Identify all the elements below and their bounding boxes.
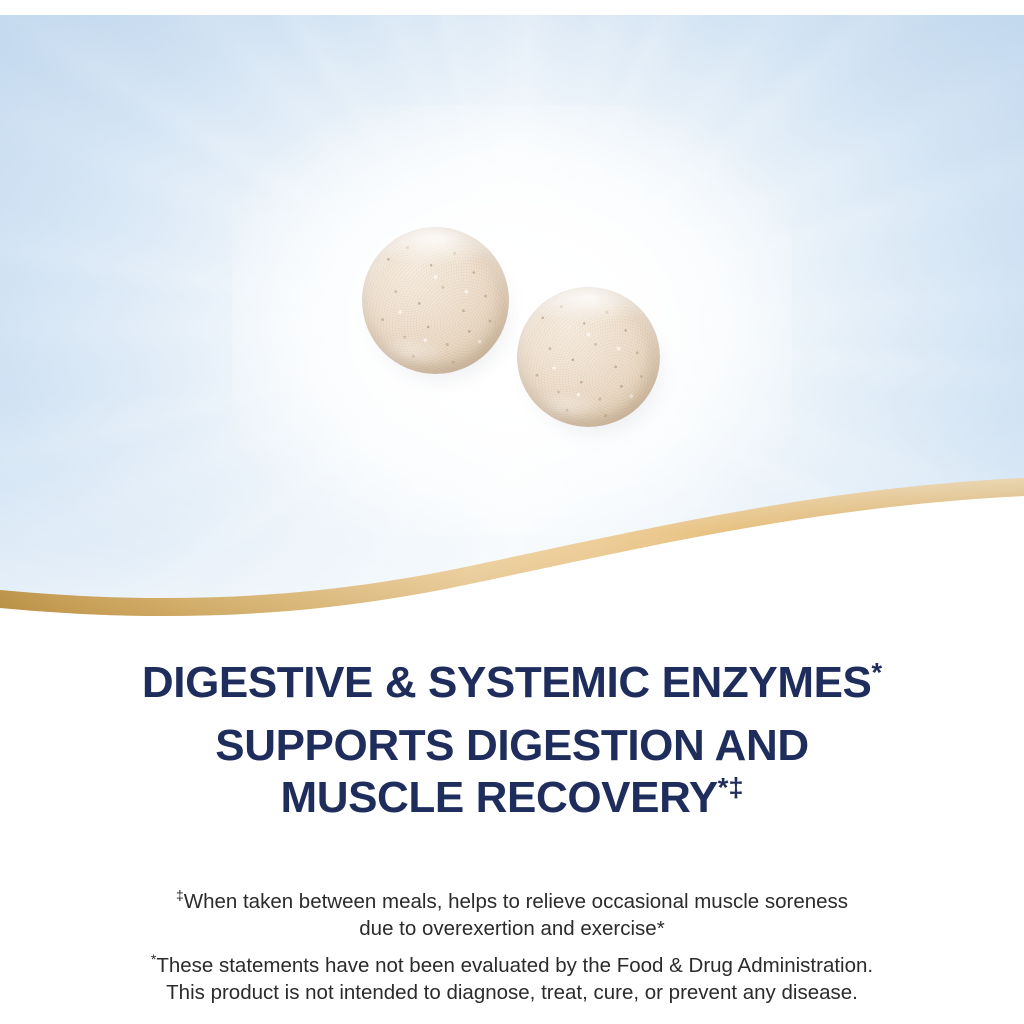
usage-disclaimer-line2: due to overexertion and exercise*: [0, 915, 1024, 942]
fda-disclaimer-line1: *These statements have not been evaluate…: [0, 952, 1024, 979]
fda-disclaimer-line2: This product is not intended to diagnose…: [0, 979, 1024, 1006]
tablet-left-edge-shading: [362, 227, 509, 374]
headline-primary-text: DIGESTIVE & SYSTEMIC ENZYMES: [142, 658, 872, 707]
headline-primary-footnote-mark: *: [871, 656, 882, 687]
tablet-right-edge-shading: [517, 287, 660, 427]
usage-disclaimer-mark: ‡: [176, 887, 184, 903]
top-white-band: [0, 0, 1024, 15]
headline-secondary-footnote-mark: *‡: [718, 771, 744, 802]
gold-wave-divider: [0, 430, 1024, 620]
text-content: DIGESTIVE & SYSTEMIC ENZYMES* SUPPORTS D…: [0, 620, 1024, 1024]
headline-secondary: SUPPORTS DIGESTION AND MUSCLE RECOVERY*‡: [0, 720, 1024, 824]
usage-disclaimer-line1: ‡When taken between meals, helps to reli…: [0, 888, 1024, 915]
headline-secondary-line2: MUSCLE RECOVERY*‡: [0, 772, 1024, 824]
tablet-left: [362, 227, 509, 374]
usage-disclaimer-line1-text: When taken between meals, helps to relie…: [184, 890, 848, 913]
product-marketing-image: DIGESTIVE & SYSTEMIC ENZYMES* SUPPORTS D…: [0, 0, 1024, 1024]
fda-disclaimer: *These statements have not been evaluate…: [0, 952, 1024, 1006]
headline-primary: DIGESTIVE & SYSTEMIC ENZYMES*: [0, 658, 1024, 708]
headline-secondary-line2-text: MUSCLE RECOVERY: [280, 773, 717, 822]
headline-secondary-line1: SUPPORTS DIGESTION AND: [0, 720, 1024, 772]
tablet-right: [517, 287, 660, 427]
fda-disclaimer-line1-text: These statements have not been evaluated…: [156, 954, 873, 977]
hero-image: [0, 0, 1024, 620]
usage-disclaimer: ‡When taken between meals, helps to reli…: [0, 888, 1024, 942]
